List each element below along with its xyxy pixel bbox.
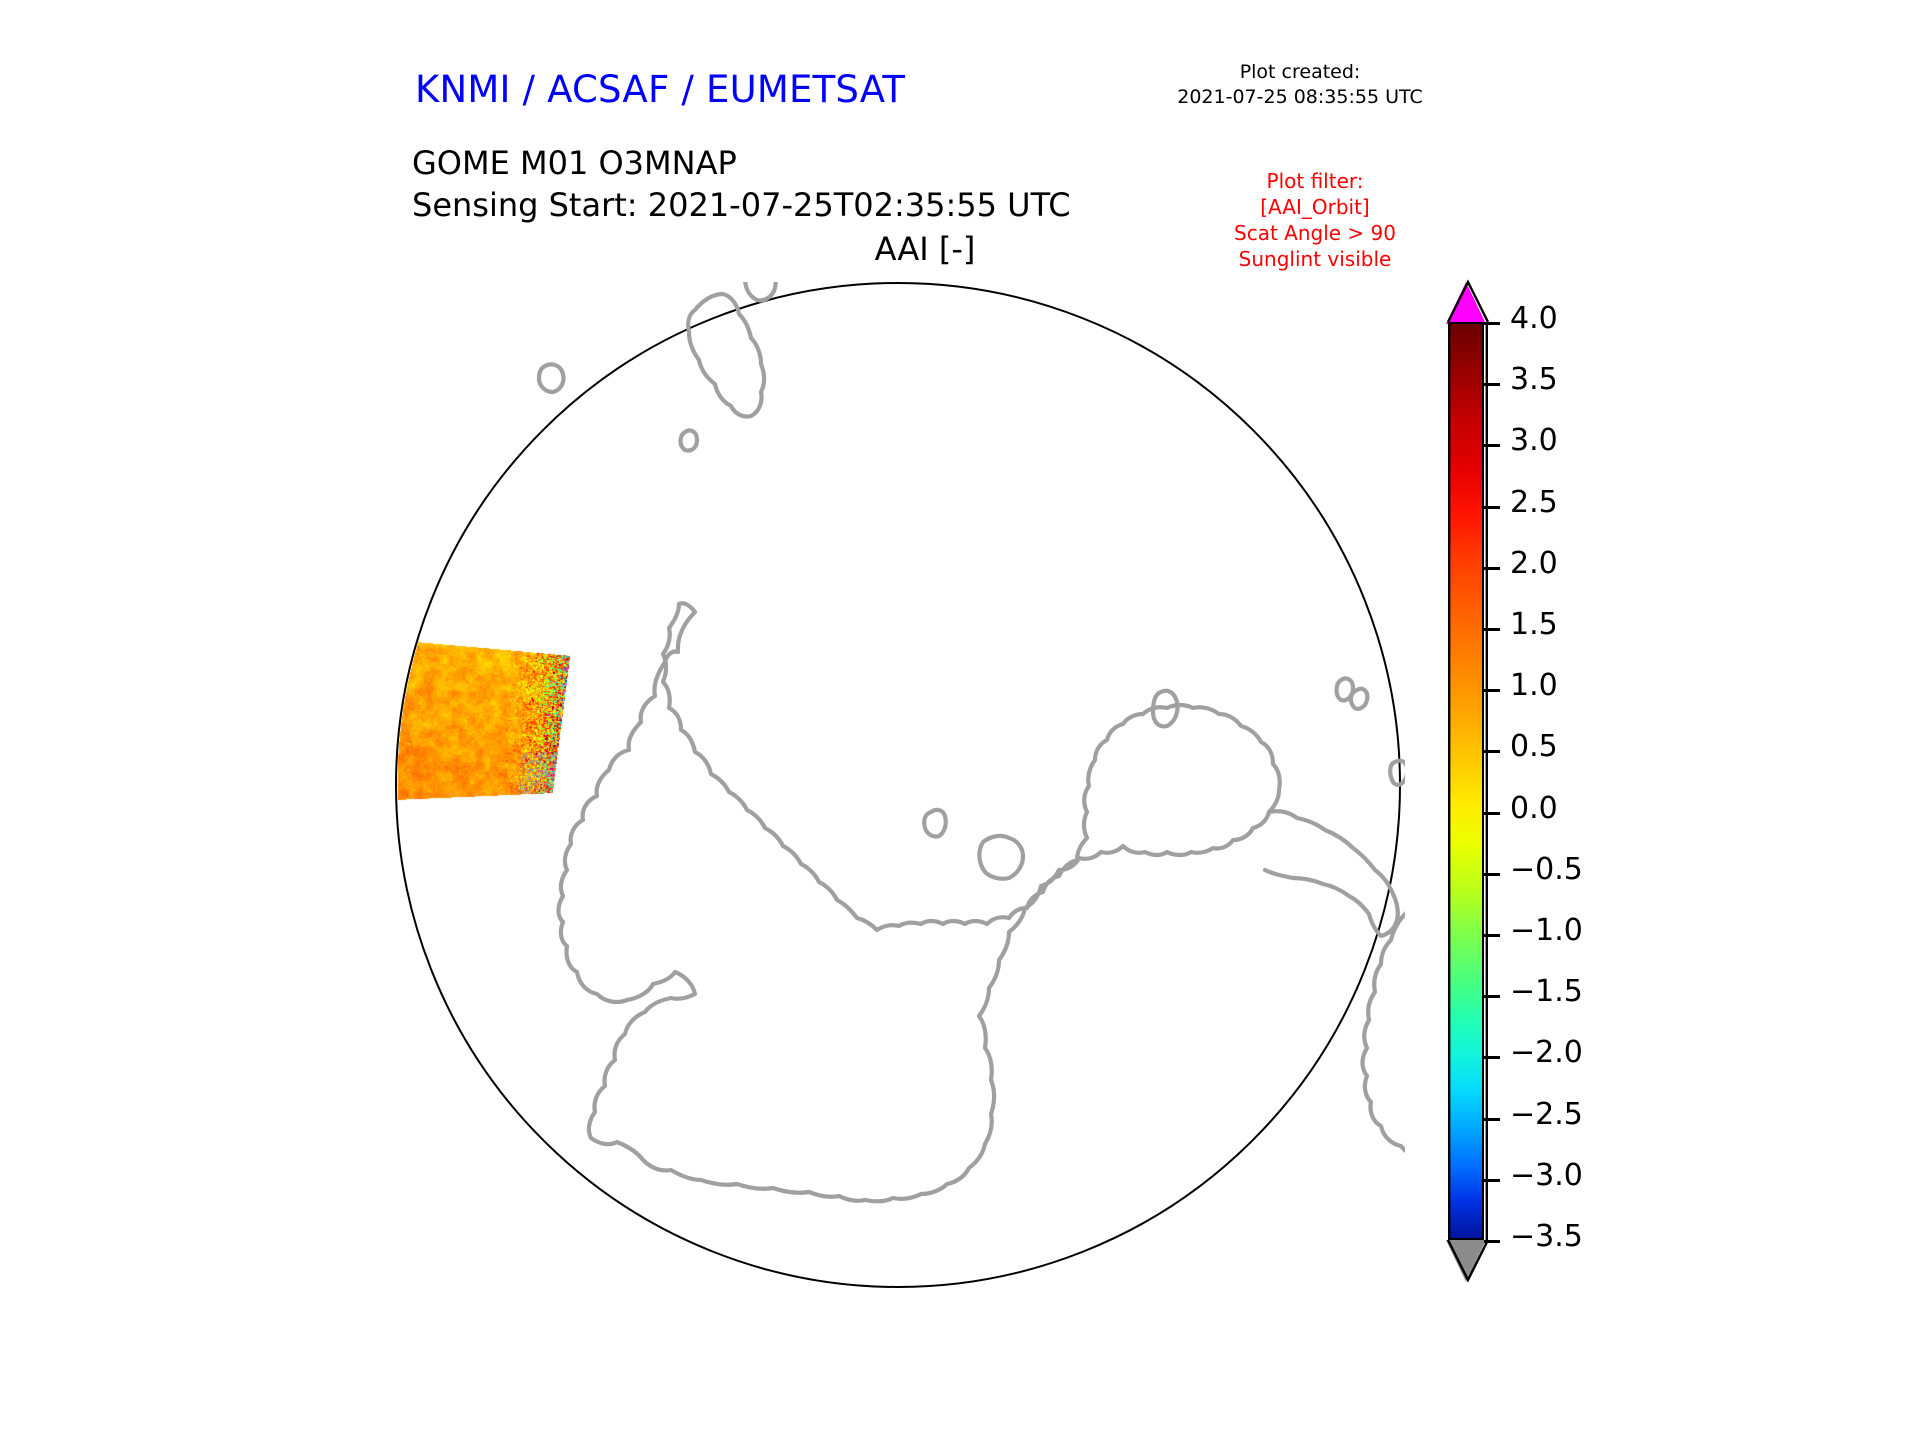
colorbar-tick-mark xyxy=(1484,995,1500,998)
colorbar-tick-mark xyxy=(1484,750,1500,753)
plot-created-timestamp: 2021-07-25 08:35:55 UTC xyxy=(1160,85,1440,110)
colorbar-tick-mark xyxy=(1484,873,1500,876)
colorbar-tick-label: −1.5 xyxy=(1510,974,1583,1009)
ross-ice-shelf-detail xyxy=(979,836,1023,879)
colorbar: 4.03.53.02.52.01.51.00.50.0−0.5−1.0−1.5−… xyxy=(1448,282,1708,1292)
colorbar-tick-label: 2.0 xyxy=(1510,546,1558,581)
new-zealand-south-island xyxy=(688,294,764,417)
plot-filter-block: Plot filter: [AAI_Orbit] Scat Angle > 90… xyxy=(1190,168,1440,272)
berkner-island xyxy=(924,810,946,837)
colorbar-tick-mark xyxy=(1484,689,1500,692)
colorbar-tick-label: −2.0 xyxy=(1510,1035,1583,1070)
colorbar-tick-group: 4.03.53.02.52.01.51.00.50.0−0.5−1.0−1.5−… xyxy=(1484,322,1704,1240)
colorbar-tick-label: −2.5 xyxy=(1510,1097,1583,1132)
colorbar-tick-label: −3.0 xyxy=(1510,1158,1583,1193)
polar-map xyxy=(395,282,1405,1292)
colorbar-tick-mark xyxy=(1484,1056,1500,1059)
organisation-title: KNMI / ACSAF / EUMETSAT xyxy=(415,68,905,111)
colorbar-tick-label: −3.5 xyxy=(1510,1219,1583,1254)
plot-created-block: Plot created: 2021-07-25 08:35:55 UTC xyxy=(1160,60,1440,110)
colorbar-tick-label: 1.5 xyxy=(1510,607,1558,642)
colorbar-tick-mark xyxy=(1484,322,1500,325)
antarctic-peninsula xyxy=(1265,811,1398,936)
island-detail-3 xyxy=(1390,761,1405,785)
colorbar-tick-label: 0.0 xyxy=(1510,791,1558,826)
tasmania-tip xyxy=(539,364,564,392)
colorbar-tick-mark xyxy=(1484,934,1500,937)
colorbar-tick-label: 4.0 xyxy=(1510,301,1558,336)
plot-title: AAI [-] xyxy=(0,230,1920,268)
colorbar-tick-label: 3.5 xyxy=(1510,362,1558,397)
colorbar-tick-mark xyxy=(1484,1118,1500,1121)
colorbar-tick-label: −1.0 xyxy=(1510,913,1583,948)
colorbar-tick-label: 1.0 xyxy=(1510,668,1558,703)
stewart-island xyxy=(681,430,698,450)
colorbar-tick-mark xyxy=(1484,1240,1500,1243)
plot-created-label: Plot created: xyxy=(1160,60,1440,85)
instrument-line: GOME M01 O3MNAP xyxy=(412,142,1071,184)
colorbar-tick-label: 0.5 xyxy=(1510,729,1558,764)
colorbar-tick-mark xyxy=(1484,444,1500,447)
south-america-southern-tip xyxy=(1363,912,1406,1165)
plot-filter-line-1: Plot filter: xyxy=(1190,168,1440,194)
colorbar-tick-mark xyxy=(1484,567,1500,570)
colorbar-tick-mark xyxy=(1484,812,1500,815)
island-detail-2 xyxy=(1351,689,1367,709)
product-info-block: GOME M01 O3MNAP Sensing Start: 2021-07-2… xyxy=(412,142,1071,226)
colorbar-tick-label: −0.5 xyxy=(1510,852,1583,887)
coastline-layer xyxy=(395,282,1405,1292)
new-zealand-north-island xyxy=(744,282,776,300)
plot-filter-line-3: Scat Angle > 90 xyxy=(1190,220,1440,246)
colorbar-tick-mark xyxy=(1484,506,1500,509)
colorbar-tick-mark xyxy=(1484,1179,1500,1182)
plot-title-text: AAI [-] xyxy=(875,230,976,268)
sensing-start-line: Sensing Start: 2021-07-25T02:35:55 UTC xyxy=(412,184,1071,226)
colorbar-tick-label: 2.5 xyxy=(1510,485,1558,520)
colorbar-tick-label: 3.0 xyxy=(1510,423,1558,458)
colorbar-tick-mark xyxy=(1484,628,1500,631)
plot-filter-line-4: Sunglint visible xyxy=(1190,246,1440,272)
plot-filter-line-2: [AAI_Orbit] xyxy=(1190,194,1440,220)
colorbar-tick-mark xyxy=(1484,383,1500,386)
